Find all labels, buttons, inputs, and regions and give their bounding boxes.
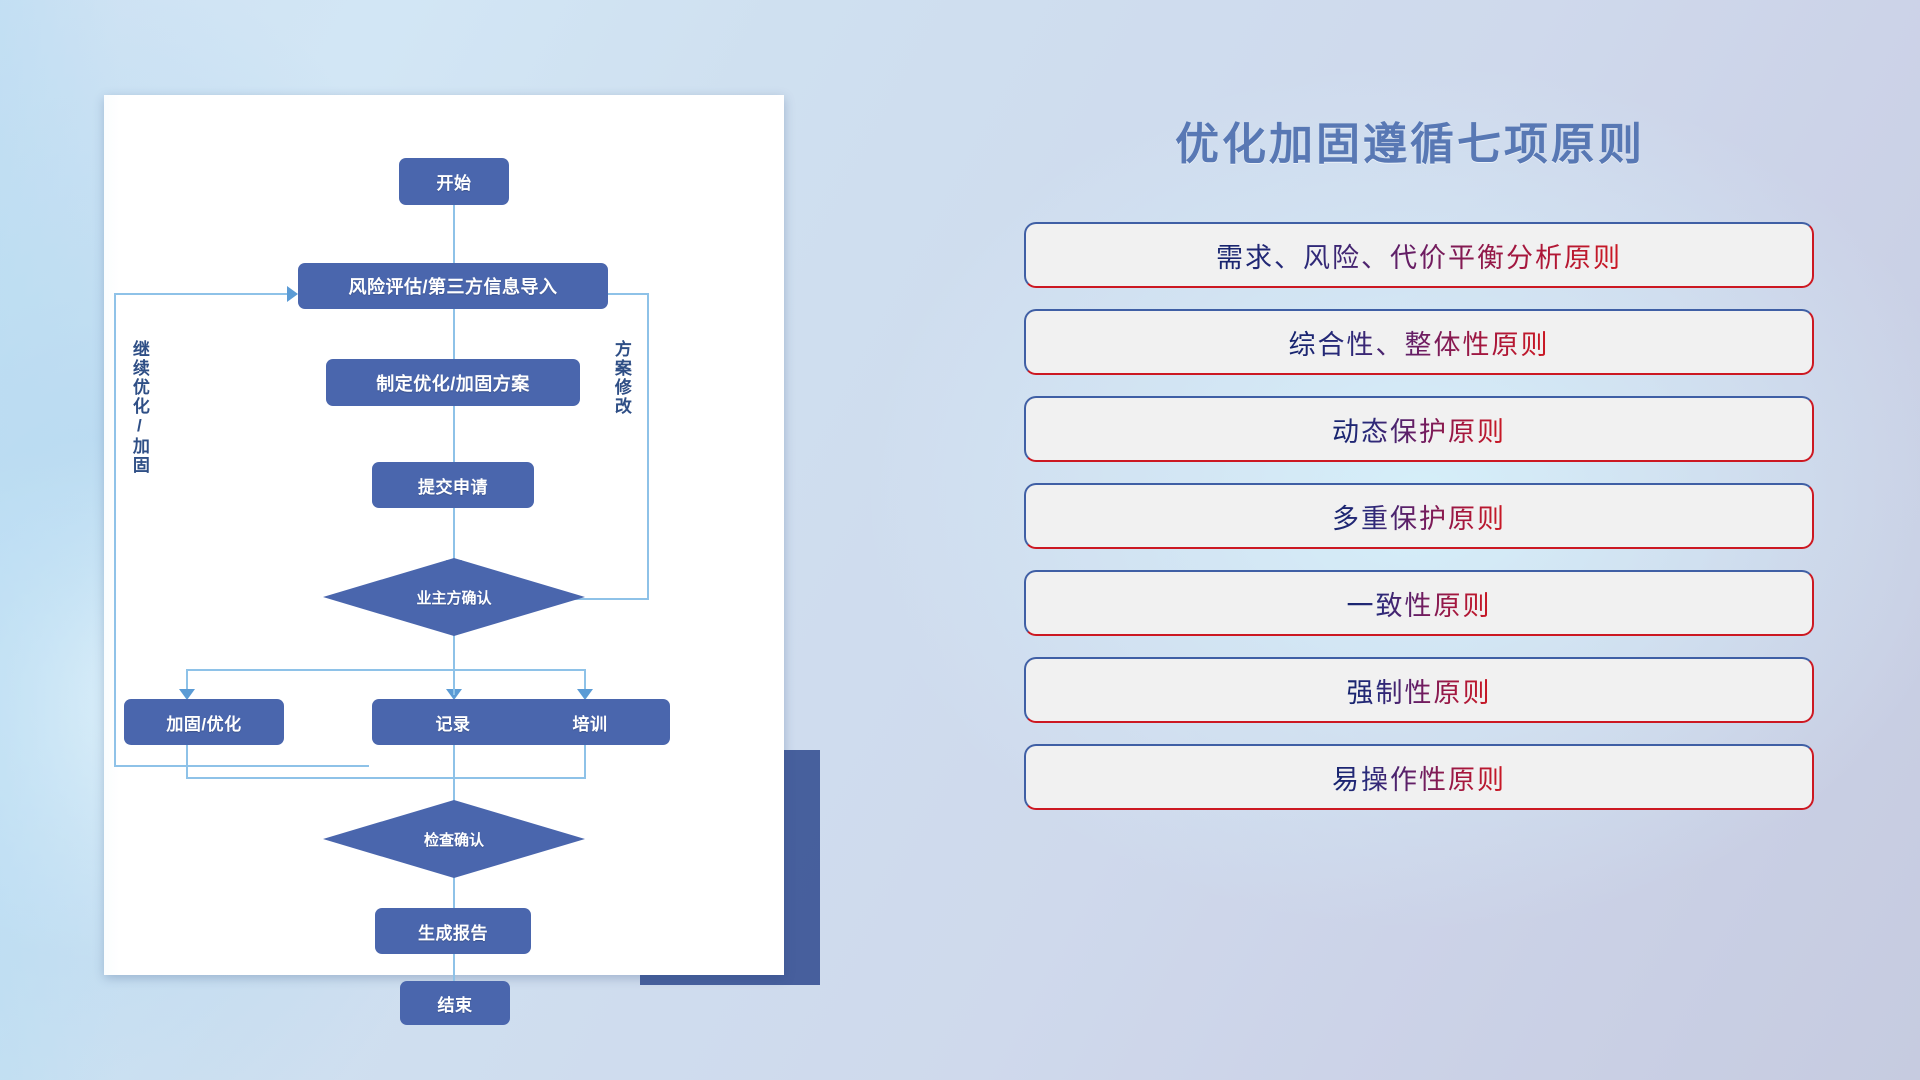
connector-left-loop-vertical xyxy=(114,293,116,767)
connector-split-bar xyxy=(186,669,586,671)
principle-label: 一致性原则 xyxy=(1347,584,1492,623)
slide-canvas: 开始 风险评估/第三方信息导入 制定优化/加固方案 提交申请 业主方确认 加固/… xyxy=(0,0,1920,1080)
principle-item-7[interactable]: 易操作性原则 xyxy=(1024,744,1814,810)
flow-node-owner-confirm[interactable]: 业主方确认 xyxy=(323,558,585,636)
connector-left-loop-top xyxy=(114,293,289,295)
flow-node-check-confirm[interactable]: 检查确认 xyxy=(323,800,585,878)
flowchart-region: 开始 风险评估/第三方信息导入 制定优化/加固方案 提交申请 业主方确认 加固/… xyxy=(0,0,820,1080)
principle-label: 动态保护原则 xyxy=(1332,410,1506,449)
principle-item-1[interactable]: 需求、风险、代价平衡分析原则 xyxy=(1024,222,1814,288)
connector-owner-down xyxy=(453,633,455,671)
flow-node-owner-confirm-label: 业主方确认 xyxy=(416,587,491,608)
connector-merge-right xyxy=(584,745,586,779)
connector-split-center xyxy=(453,669,455,695)
edge-label-plan-revision: 方案修改 xyxy=(612,340,630,416)
flow-node-reinforce-optimize-label: 加固/优化 xyxy=(166,710,241,735)
flow-node-submit-application[interactable]: 提交申请 xyxy=(372,462,534,508)
principles-list: 需求、风险、代价平衡分析原则 综合性、整体性原则 动态保护原则 多重保护原则 一… xyxy=(1024,222,1814,831)
principle-item-4[interactable]: 多重保护原则 xyxy=(1024,483,1814,549)
flow-node-training-label: 培训 xyxy=(573,710,608,735)
flow-node-risk-assessment-label: 风险评估/第三方信息导入 xyxy=(349,273,558,299)
connector-start-to-risk xyxy=(453,205,455,267)
flow-node-submit-application-label: 提交申请 xyxy=(418,473,488,498)
flow-node-risk-assessment[interactable]: 风险评估/第三方信息导入 xyxy=(298,263,608,309)
connector-merge-bar xyxy=(186,777,586,779)
flow-node-start[interactable]: 开始 xyxy=(399,158,509,205)
arrowhead-left-loop-to-plan xyxy=(287,286,298,302)
principle-label: 易操作性原则 xyxy=(1332,758,1506,797)
principle-item-2[interactable]: 综合性、整体性原则 xyxy=(1024,309,1814,375)
flow-node-check-confirm-label: 检查确认 xyxy=(424,829,484,850)
flow-node-start-label: 开始 xyxy=(437,169,472,194)
principle-label: 强制性原则 xyxy=(1347,671,1492,710)
flow-node-make-plan[interactable]: 制定优化/加固方案 xyxy=(326,359,580,406)
principle-item-6[interactable]: 强制性原则 xyxy=(1024,657,1814,723)
principle-label: 综合性、整体性原则 xyxy=(1289,323,1550,362)
page-title: 优化加固遵循七项原则 xyxy=(1000,108,1820,172)
principles-panel: 优化加固遵循七项原则 需求、风险、代价平衡分析原则 综合性、整体性原则 动态保护… xyxy=(1000,0,1920,1080)
flow-node-record-label: 记录 xyxy=(436,710,471,735)
principle-label: 多重保护原则 xyxy=(1332,497,1506,536)
flowchart-card: 开始 风险评估/第三方信息导入 制定优化/加固方案 提交申请 业主方确认 加固/… xyxy=(104,95,784,975)
principle-item-3[interactable]: 动态保护原则 xyxy=(1024,396,1814,462)
flow-node-training[interactable]: 培训 xyxy=(510,699,670,745)
principle-item-5[interactable]: 一致性原则 xyxy=(1024,570,1814,636)
flow-node-generate-report-label: 生成报告 xyxy=(418,919,488,944)
flow-node-make-plan-label: 制定优化/加固方案 xyxy=(376,370,530,396)
connector-left-loop-bottom xyxy=(114,765,369,767)
connector-risk-to-plan xyxy=(453,307,455,367)
flow-node-generate-report[interactable]: 生成报告 xyxy=(375,908,531,954)
connector-plan-to-submit xyxy=(453,405,455,467)
edge-label-continue-optimize: 继续优化/加固 xyxy=(130,340,148,475)
connector-right-loop-vertical xyxy=(647,293,649,600)
flow-node-reinforce-optimize[interactable]: 加固/优化 xyxy=(124,699,284,745)
flow-node-end-label: 结束 xyxy=(438,991,473,1016)
connector-merge-left xyxy=(186,745,188,779)
principle-label: 需求、风险、代价平衡分析原则 xyxy=(1216,236,1622,275)
flow-node-end[interactable]: 结束 xyxy=(400,981,510,1025)
